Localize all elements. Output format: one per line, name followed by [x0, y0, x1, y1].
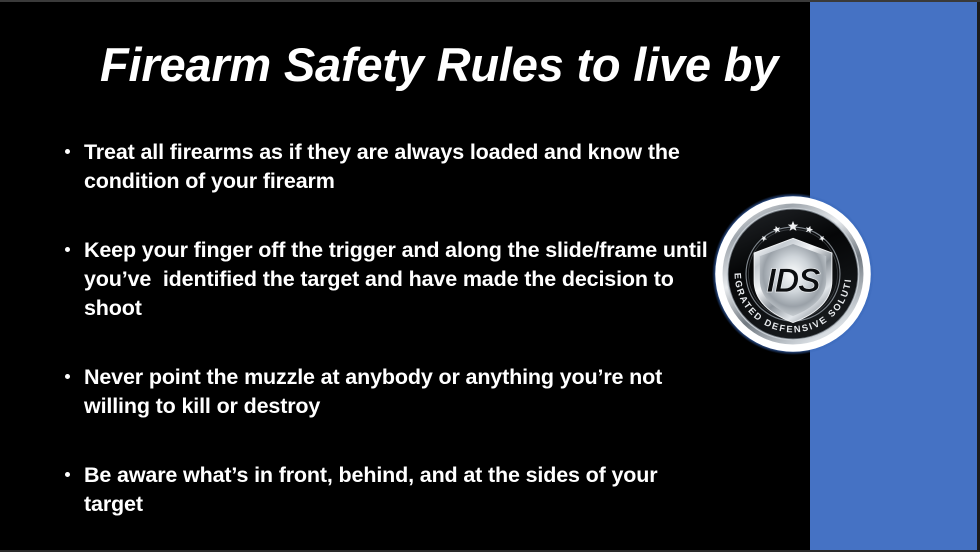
slide-title: Firearm Safety Rules to live by: [100, 40, 760, 91]
list-item-text: Be aware what’s in front, behind, and at…: [84, 461, 712, 519]
safety-rules-list: Treat all firearms as if they are always…: [62, 138, 712, 519]
bullet-dot-icon: [65, 374, 70, 379]
list-item-text: Keep your finger off the trigger and alo…: [84, 236, 712, 323]
bullet-dot-icon: [65, 472, 70, 477]
list-item: Be aware what’s in front, behind, and at…: [62, 461, 712, 519]
ids-badge-logo: INTEGRATED DEFENSIVE SOLUTIONS IDS IDS: [712, 193, 874, 355]
presentation-slide: Firearm Safety Rules to live by Treat al…: [0, 0, 980, 552]
svg-text:IDS: IDS: [766, 262, 821, 300]
list-item: Treat all firearms as if they are always…: [62, 138, 712, 196]
list-item: Never point the muzzle at anybody or any…: [62, 363, 712, 421]
list-item-text: Treat all firearms as if they are always…: [84, 138, 712, 196]
bullet-dot-icon: [65, 149, 70, 154]
list-item: Keep your finger off the trigger and alo…: [62, 236, 712, 323]
list-item-text: Never point the muzzle at anybody or any…: [84, 363, 712, 421]
bullet-dot-icon: [65, 247, 70, 252]
